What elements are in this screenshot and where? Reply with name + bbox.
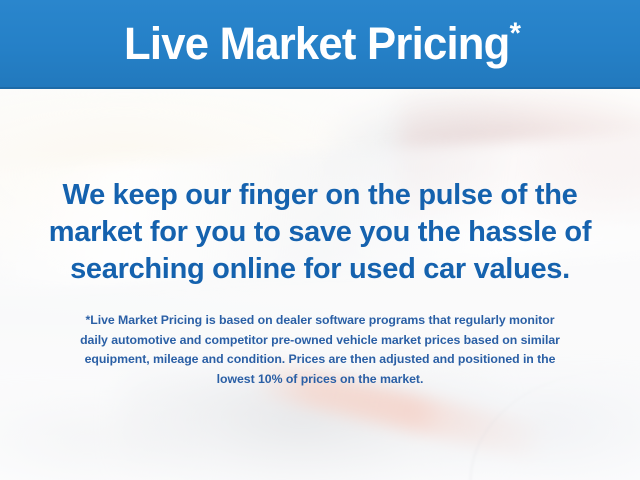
header-banner: Live Market Pricing* <box>0 0 640 89</box>
live-market-pricing-promo-card: Live Market Pricing* We keep our finger … <box>0 0 640 480</box>
headline-line-3: searching online for used car values. <box>0 251 640 288</box>
fineprint-line-2: daily automotive and competitor pre-owne… <box>0 331 640 351</box>
fineprint-line-4: lowest 10% of prices on the market. <box>0 370 640 390</box>
headline-block: We keep our finger on the pulse of the m… <box>0 177 640 288</box>
page-title: Live Market Pricing* <box>119 21 522 66</box>
headline-line-1: We keep our finger on the pulse of the <box>0 177 640 214</box>
footnote-marker-asterisk: * <box>510 17 521 50</box>
fineprint-disclaimer-block: *Live Market Pricing is based on dealer … <box>0 311 640 389</box>
fineprint-line-1: *Live Market Pricing is based on dealer … <box>0 311 640 331</box>
page-title-text: Live Market Pricing <box>124 18 510 69</box>
content-area: We keep our finger on the pulse of the m… <box>0 89 640 480</box>
headline-line-2: market for you to save you the hassle of <box>0 214 640 251</box>
fineprint-line-3: equipment, mileage and condition. Prices… <box>0 350 640 370</box>
